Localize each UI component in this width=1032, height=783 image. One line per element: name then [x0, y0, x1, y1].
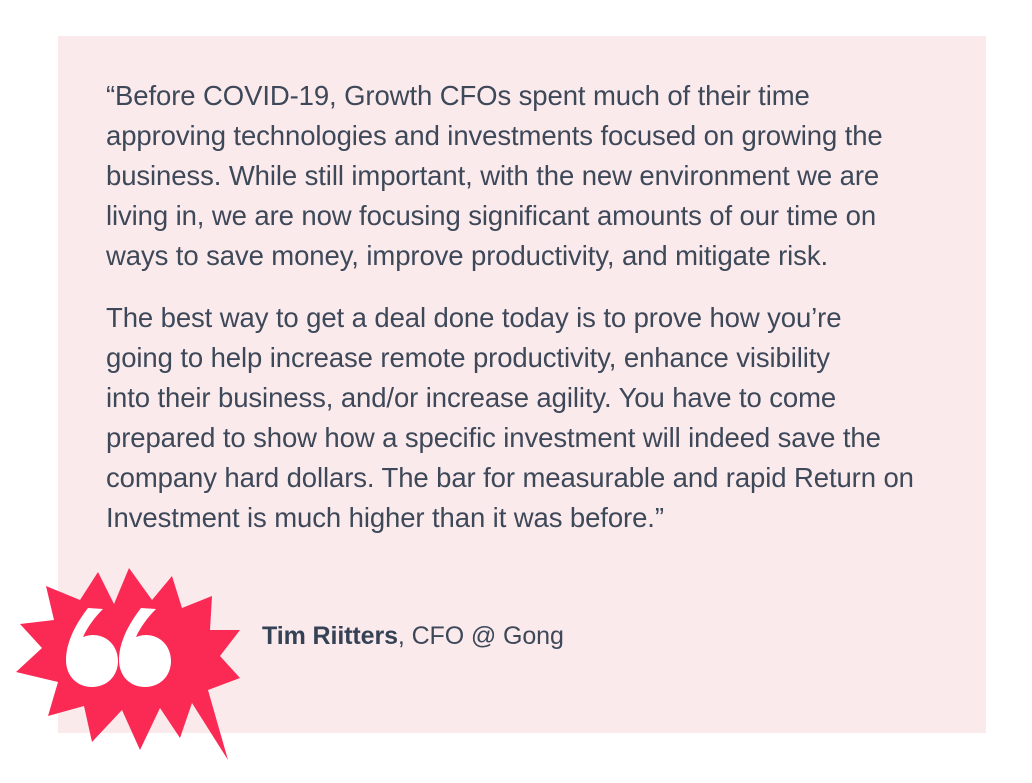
- attribution-role: CFO @ Gong: [412, 622, 564, 650]
- quote-text-block: “Before COVID-19, Growth CFOs spent much…: [106, 76, 936, 538]
- quote-attribution: Tim Riitters, CFO @ Gong: [262, 619, 564, 653]
- quote-line: going to help increase remote productivi…: [106, 342, 830, 373]
- quote-badge: [12, 560, 240, 770]
- quote-paragraph-1: “Before COVID-19, Growth CFOs spent much…: [106, 76, 936, 276]
- quote-line: prepared to show how a specific investme…: [106, 422, 881, 453]
- attribution-separator: ,: [398, 622, 412, 650]
- quote-line: The best way to get a deal done today is…: [106, 302, 841, 333]
- quote-line: ways to save money, improve productivity…: [106, 240, 828, 271]
- quote-line: business. While still important, with th…: [106, 160, 879, 191]
- quote-line: Investment is much higher than it was be…: [106, 502, 664, 533]
- quote-line: into their business, and/or increase agi…: [106, 382, 836, 413]
- attribution-name: Tim Riitters: [262, 622, 398, 650]
- quote-line: approving technologies and investments f…: [106, 120, 883, 151]
- quote-paragraph-2: The best way to get a deal done today is…: [106, 298, 936, 538]
- quote-line: living in, we are now focusing significa…: [106, 200, 876, 231]
- quote-line: company hard dollars. The bar for measur…: [106, 462, 914, 493]
- quote-line: “Before COVID-19, Growth CFOs spent much…: [106, 80, 810, 111]
